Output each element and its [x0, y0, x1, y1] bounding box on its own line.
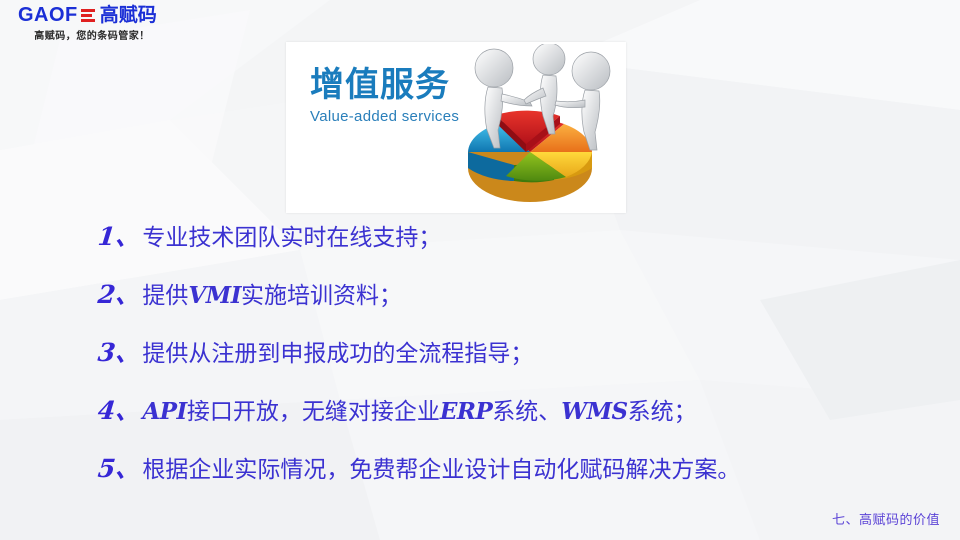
- logo-tagline: 高赋码，您的条码管家！: [18, 27, 166, 42]
- list-item-number: 1、: [96, 222, 142, 252]
- list-item: 3、 提供从注册到申报成功的全流程指导；: [98, 338, 898, 396]
- list-item-text: API接口开放，无缝对接企业ERP系统、WMS系统；: [142, 397, 696, 427]
- bars-icon: [81, 9, 95, 22]
- hero-image-card: 增值服务 Value-added services: [286, 42, 626, 213]
- term-vmi: VMI: [188, 282, 241, 309]
- brand-logo[interactable]: GAOF 高赋码 高赋码，您的条码管家！: [18, 4, 168, 44]
- slide-root: GAOF 高赋码 高赋码，您的条码管家！ 增值服务 Value-added se…: [0, 0, 960, 540]
- list-item: 5、 根据企业实际情况，免费帮企业设计自动化赋码解决方案。: [98, 454, 898, 512]
- list-item-text: 提供VMI实施培训资料；: [142, 281, 402, 311]
- term-api: API: [142, 398, 186, 425]
- list-item-number: 2、: [96, 280, 142, 310]
- list-item-number: 4、: [96, 396, 142, 426]
- list-item-text: 根据企业实际情况，免费帮企业设计自动化赋码解决方案。: [142, 455, 740, 485]
- footer-section-label: 七、高赋码的价值: [832, 509, 940, 528]
- list-item-text: 提供从注册到申报成功的全流程指导；: [142, 339, 533, 369]
- term-erp: ERP: [440, 398, 492, 425]
- list-item-text: 专业技术团队实时在线支持；: [142, 223, 441, 253]
- list-item-number: 3、: [96, 338, 142, 368]
- 3d-pie-chart-with-figures-illustration: [454, 44, 624, 212]
- logo-chinese-text: 高赋码: [100, 5, 157, 25]
- list-item: 1、 专业技术团队实时在线支持；: [98, 222, 898, 280]
- list-item: 2、 提供VMI实施培训资料；: [98, 280, 898, 338]
- list-item: 4、 API接口开放，无缝对接企业ERP系统、WMS系统；: [98, 396, 898, 454]
- logo-latin-text: GAOF: [18, 5, 78, 25]
- benefit-list: 1、 专业技术团队实时在线支持； 2、 提供VMI实施培训资料； 3、 提供从注…: [98, 222, 898, 512]
- logo-wordmark-row: GAOF 高赋码: [18, 4, 168, 26]
- term-wms: WMS: [561, 398, 627, 425]
- list-item-number: 5、: [96, 454, 142, 484]
